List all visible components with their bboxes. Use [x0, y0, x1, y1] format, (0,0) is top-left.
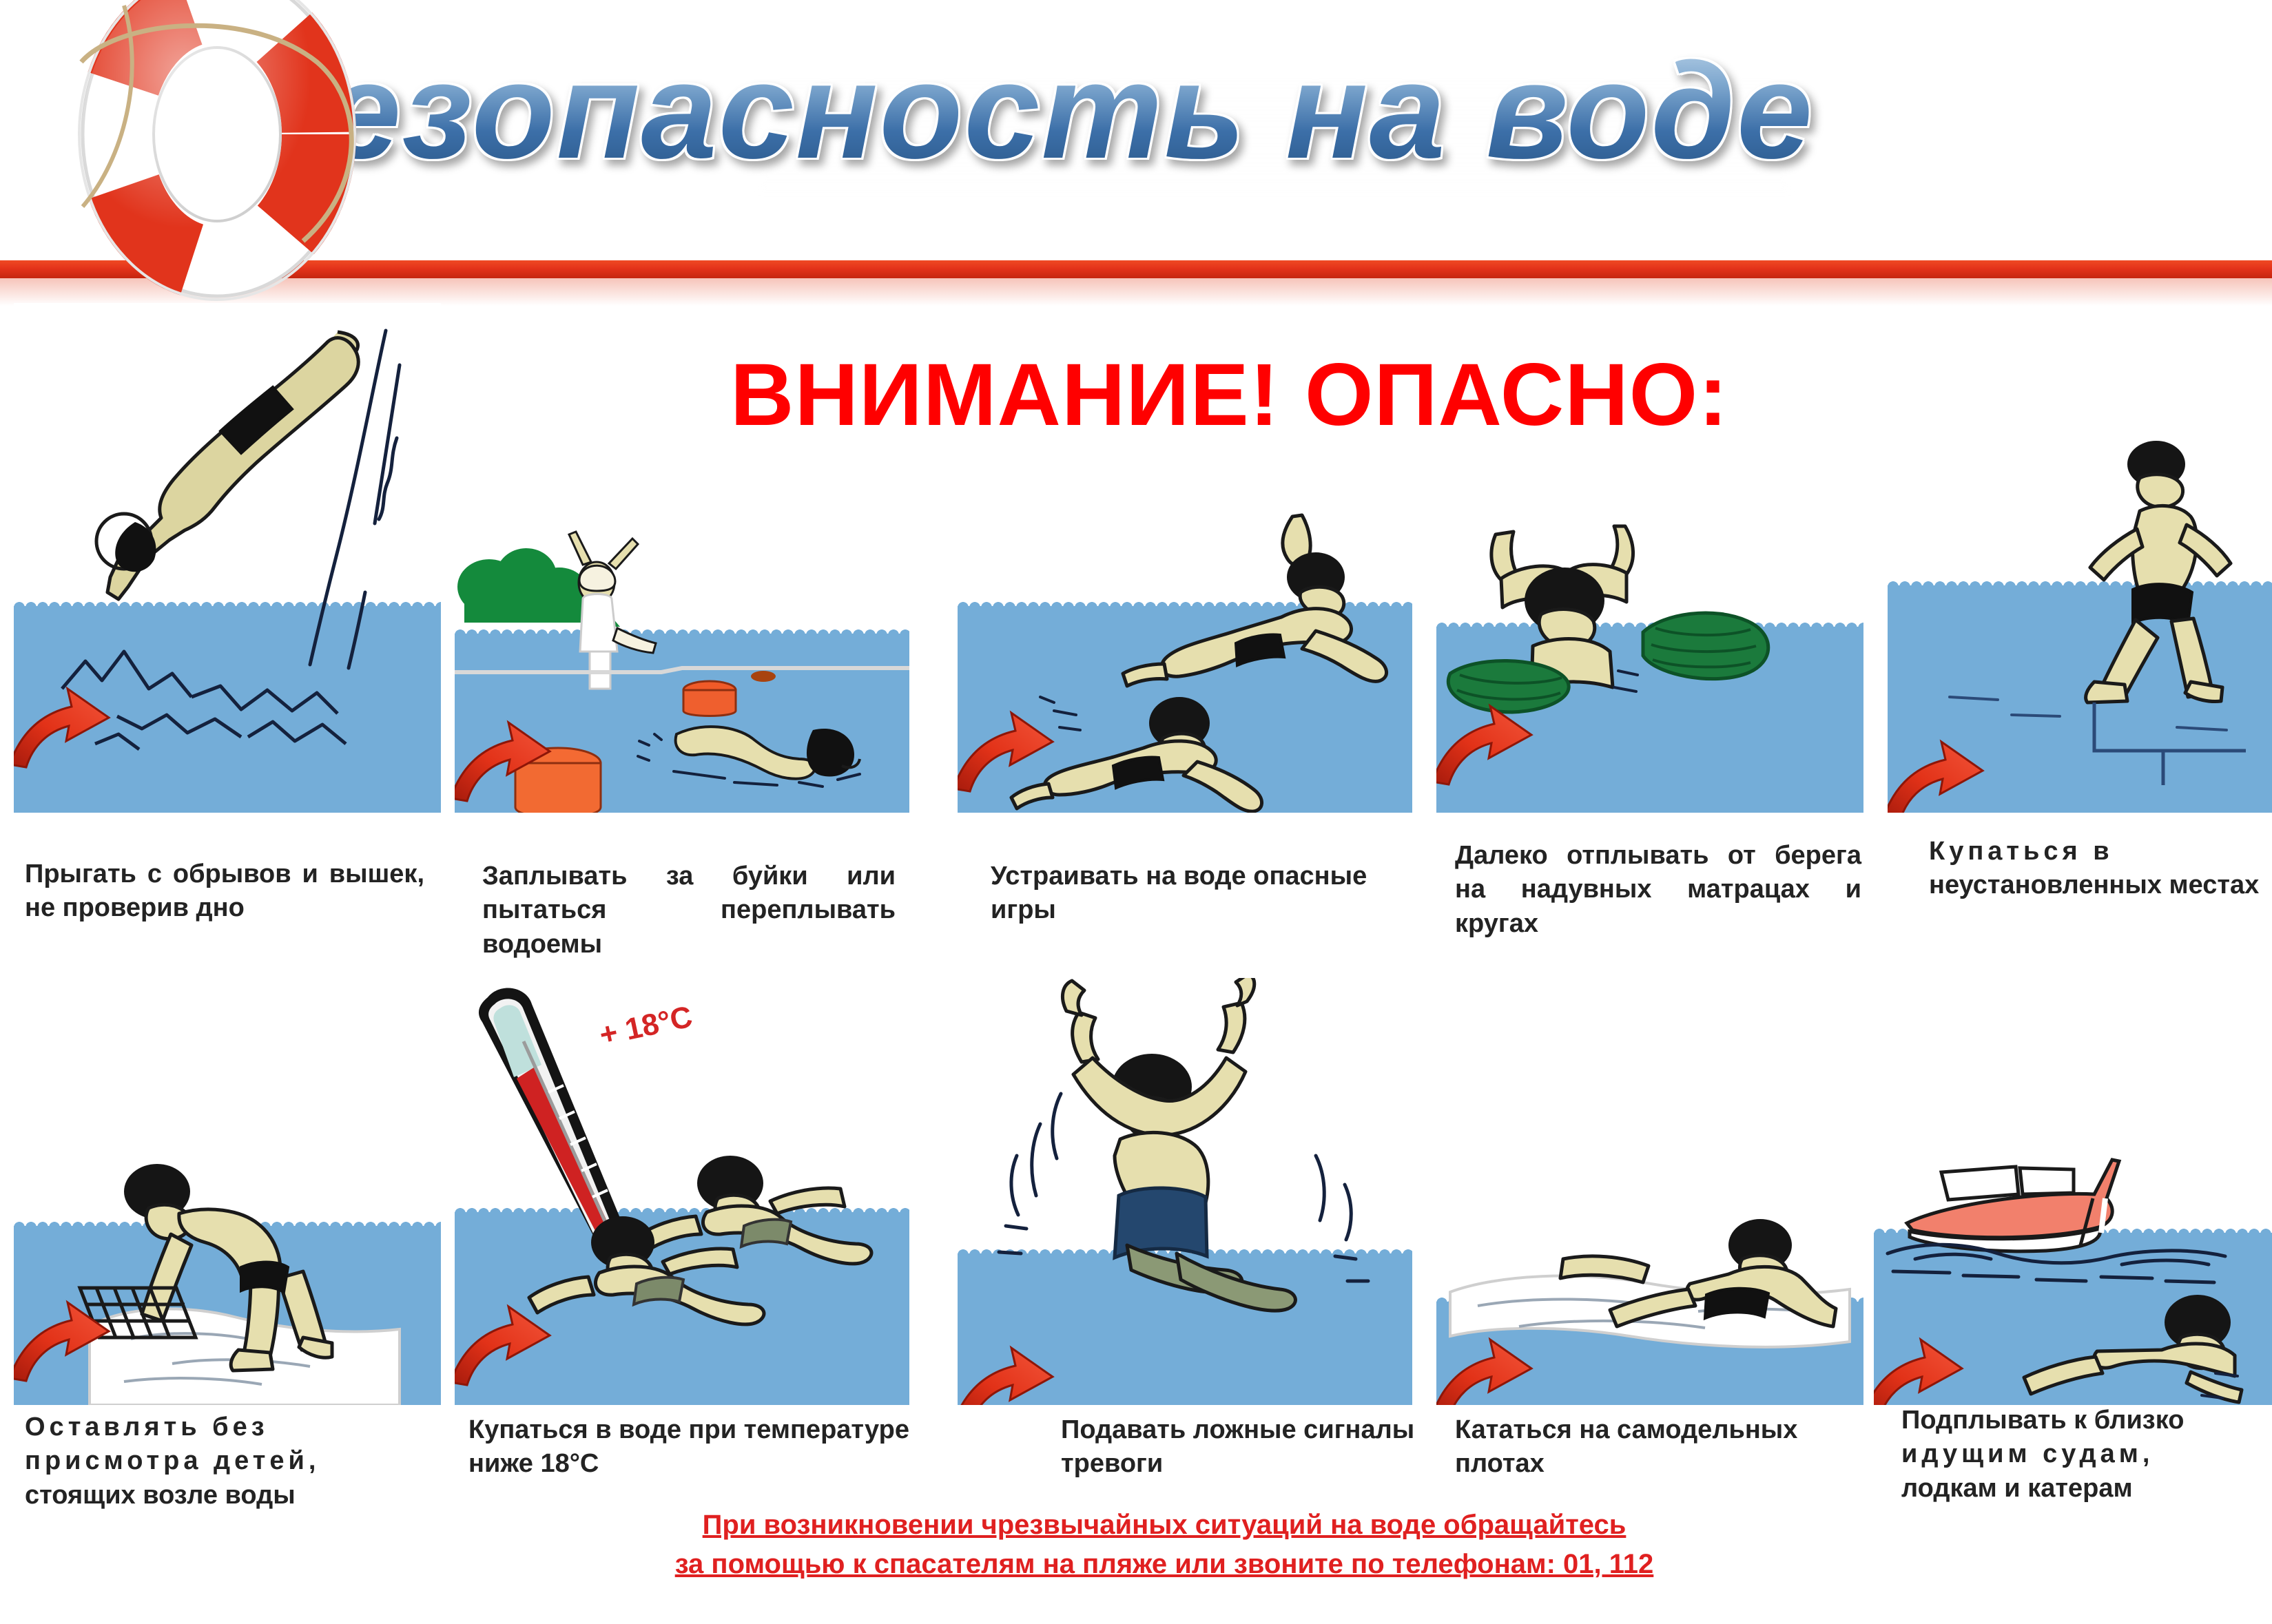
- two-swimmers-dunking-icon: [958, 496, 1412, 813]
- child-near-water-icon: [14, 1061, 441, 1405]
- header-red-divider-glow: [0, 278, 2272, 306]
- drowning-with-inflatable-icon: [1436, 510, 1863, 813]
- caption-cold-water: Купаться в воде при температуре ниже 18°…: [468, 1413, 909, 1481]
- red-arrow-icon: [958, 1336, 1055, 1405]
- caption-unattended-children: Оставлять без присмотра детей, стоящих в…: [25, 1410, 431, 1512]
- swimmer-on-raft-icon: [1436, 1171, 1863, 1405]
- red-arrow-icon: [1436, 694, 1534, 791]
- emergency-instructions: При возникновении чрезвычайных ситуаций …: [455, 1506, 1874, 1584]
- panel-inflatables-far: [1436, 510, 1863, 813]
- red-arrow-icon: [1436, 1328, 1534, 1405]
- caption-unapproved-places: Купаться в неустановленных местах: [1929, 835, 2272, 903]
- panel-dangerous-games: [958, 496, 1412, 813]
- danger-heading: ВНИМАНИЕ! ОПАСНО:: [730, 344, 1728, 446]
- red-arrow-icon: [14, 1291, 112, 1387]
- page-title: Безопасность на воде: [227, 25, 2266, 197]
- panel-cliff-jump: [14, 303, 441, 813]
- diver-icon: [14, 303, 441, 813]
- caption-homemade-rafts: Кататься на самодельных плотах: [1455, 1413, 1861, 1481]
- panel-past-buoys: [455, 523, 909, 813]
- thermometer-label: + 18°C: [597, 1000, 695, 1052]
- thermometer-icon: + 18°C: [455, 964, 909, 1405]
- panel-homemade-rafts: [1436, 1171, 1863, 1405]
- caption-cliff-jump: Прыгать с обрывов и вышек, не проверив д…: [25, 857, 424, 926]
- water-safety-poster: Безопасность на воде: [0, 0, 2272, 1624]
- red-arrow-icon: [958, 701, 1055, 798]
- boy-on-ledge-icon: [1888, 427, 2272, 813]
- swimmer-past-buoys-icon: [455, 523, 909, 813]
- caption-near-vessels: Подплывать к близко идущим судам, лодкам…: [1901, 1404, 2272, 1506]
- poster-header: Безопасность на воде: [0, 0, 2272, 256]
- caption-false-alarm: Подавать ложные сигналы тревоги: [1061, 1413, 1419, 1481]
- red-arrow-icon: [14, 680, 112, 770]
- caption-past-buoys: Заплывать за буйки или пытаться переплыв…: [482, 860, 896, 961]
- person-waving-in-water-icon: [958, 978, 1412, 1405]
- caption-inflatables-far: Далеко отплывать от берега на надувных м…: [1455, 839, 1861, 941]
- panel-unapproved-places: [1888, 427, 2272, 813]
- red-arrow-icon: [455, 1295, 552, 1391]
- panel-near-vessels: [1874, 1136, 2272, 1405]
- caption-dangerous-games: Устраивать на воде опасные игры: [991, 860, 1418, 928]
- emergency-line-2: за помощью к спасателям на пляже или зво…: [675, 1549, 1654, 1579]
- red-arrow-icon: [455, 711, 552, 807]
- panel-cold-water: + 18°C: [455, 964, 909, 1405]
- emergency-line-1: При возникновении чрезвычайных ситуаций …: [703, 1510, 1626, 1540]
- panel-unattended-children: [14, 1061, 441, 1405]
- panel-false-alarm: [958, 978, 1412, 1405]
- red-arrow-icon: [1888, 730, 1985, 813]
- header-red-divider: [0, 260, 2272, 278]
- red-arrow-icon: [1874, 1328, 1965, 1405]
- motorboat-and-swimmer-icon: [1874, 1136, 2272, 1405]
